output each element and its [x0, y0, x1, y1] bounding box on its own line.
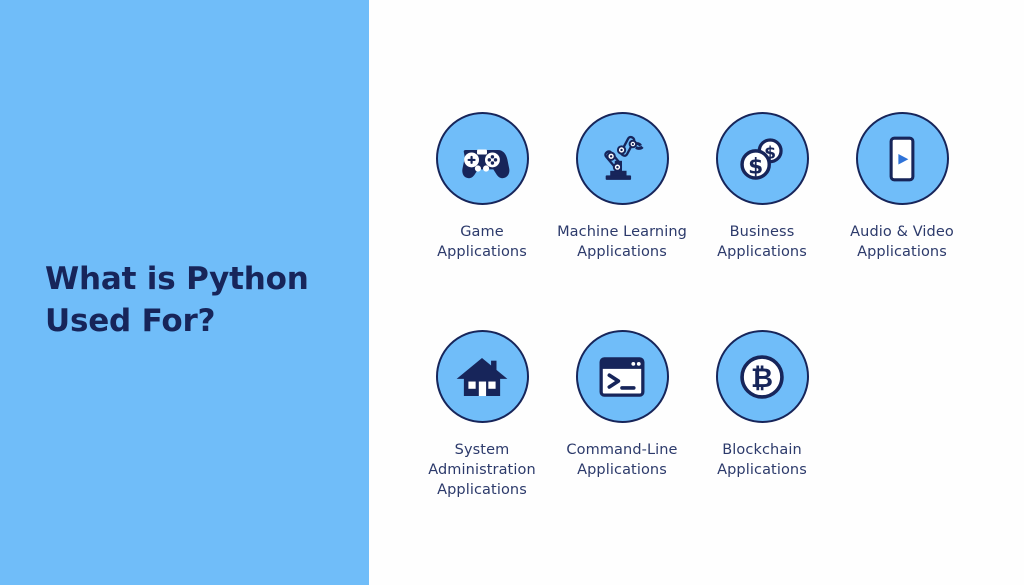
card-system-administration-applications[interactable]: System Administration Applications — [412, 330, 552, 500]
icon-grid: Game Applications — [369, 0, 1024, 585]
card-blockchain-applications[interactable]: ₿ Blockchain Applications — [692, 330, 832, 480]
card-audio-video-applications[interactable]: Audio & Video Applications — [832, 112, 972, 262]
robot-arm-icon — [576, 112, 669, 205]
icon-row-1: Game Applications — [412, 112, 972, 262]
page-title: What is Python Used For? — [45, 258, 345, 342]
bitcoin-icon: ₿ — [716, 330, 809, 423]
dollar-coins-icon: $ $ — [716, 112, 809, 205]
house-icon — [436, 330, 529, 423]
slide-root: What is Python Used For? — [0, 0, 1024, 585]
terminal-window-icon — [576, 330, 669, 423]
svg-text:₿: ₿ — [751, 362, 773, 393]
icon-row-2: System Administration Applications Comma… — [412, 330, 832, 500]
card-label: Command-Line Applications — [566, 440, 677, 480]
card-command-line-applications[interactable]: Command-Line Applications — [552, 330, 692, 480]
card-game-applications[interactable]: Game Applications — [412, 112, 552, 262]
card-label: Game Applications — [437, 222, 527, 262]
card-label: Business Applications — [717, 222, 807, 262]
card-label: Machine Learning Applications — [557, 222, 687, 262]
card-label: System Administration Applications — [428, 440, 536, 500]
card-label: Blockchain Applications — [717, 440, 807, 480]
game-controller-icon — [436, 112, 529, 205]
title-panel: What is Python Used For? — [0, 0, 369, 585]
card-business-applications[interactable]: $ $ Business Applications — [692, 112, 832, 262]
mobile-play-icon — [856, 112, 949, 205]
card-machine-learning-applications[interactable]: Machine Learning Applications — [552, 112, 692, 262]
card-label: Audio & Video Applications — [850, 222, 954, 262]
svg-text:$: $ — [748, 154, 763, 179]
